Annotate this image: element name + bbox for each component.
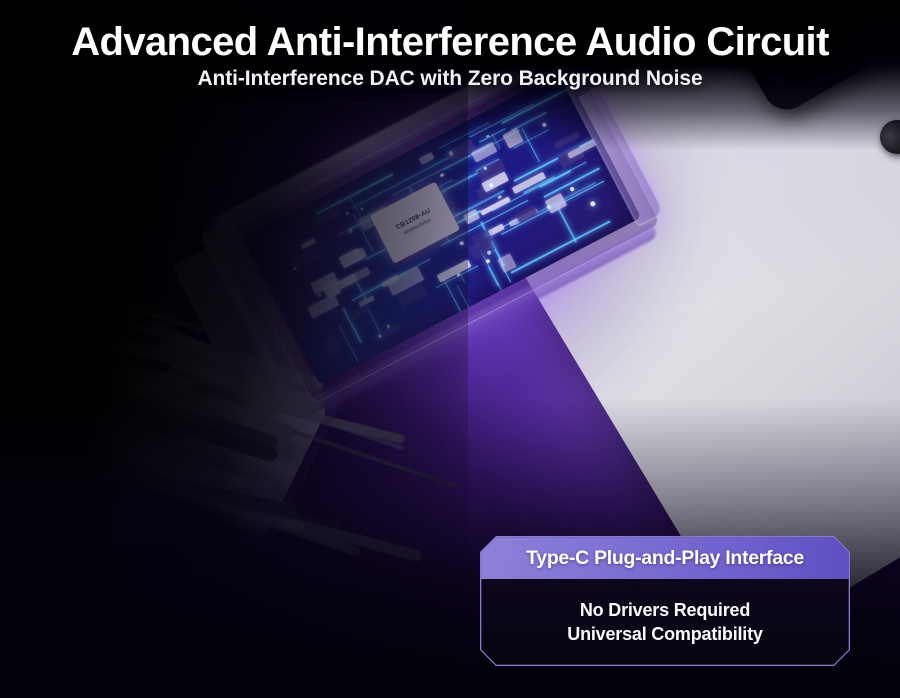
feature-callout-body: No Drivers Required Universal Compatibil… (481, 579, 848, 664)
feature-callout-line-2: Universal Compatibility (567, 624, 762, 645)
promo-banner: CB1208-AU 3840Hz/32bit Advanced Anti-Int… (0, 0, 900, 698)
feature-callout-line-1: No Drivers Required (580, 600, 750, 621)
page-subtitle: Anti-Interference DAC with Zero Backgrou… (0, 67, 900, 91)
feature-callout-card: Type-C Plug-and-Play Interface No Driver… (480, 536, 850, 666)
page-title: Advanced Anti-Interference Audio Circuit (0, 20, 900, 65)
feature-callout-title: Type-C Plug-and-Play Interface (526, 547, 804, 570)
feature-callout-header: Type-C Plug-and-Play Interface (481, 537, 848, 579)
feature-callout-inner: Type-C Plug-and-Play Interface No Driver… (481, 537, 848, 664)
